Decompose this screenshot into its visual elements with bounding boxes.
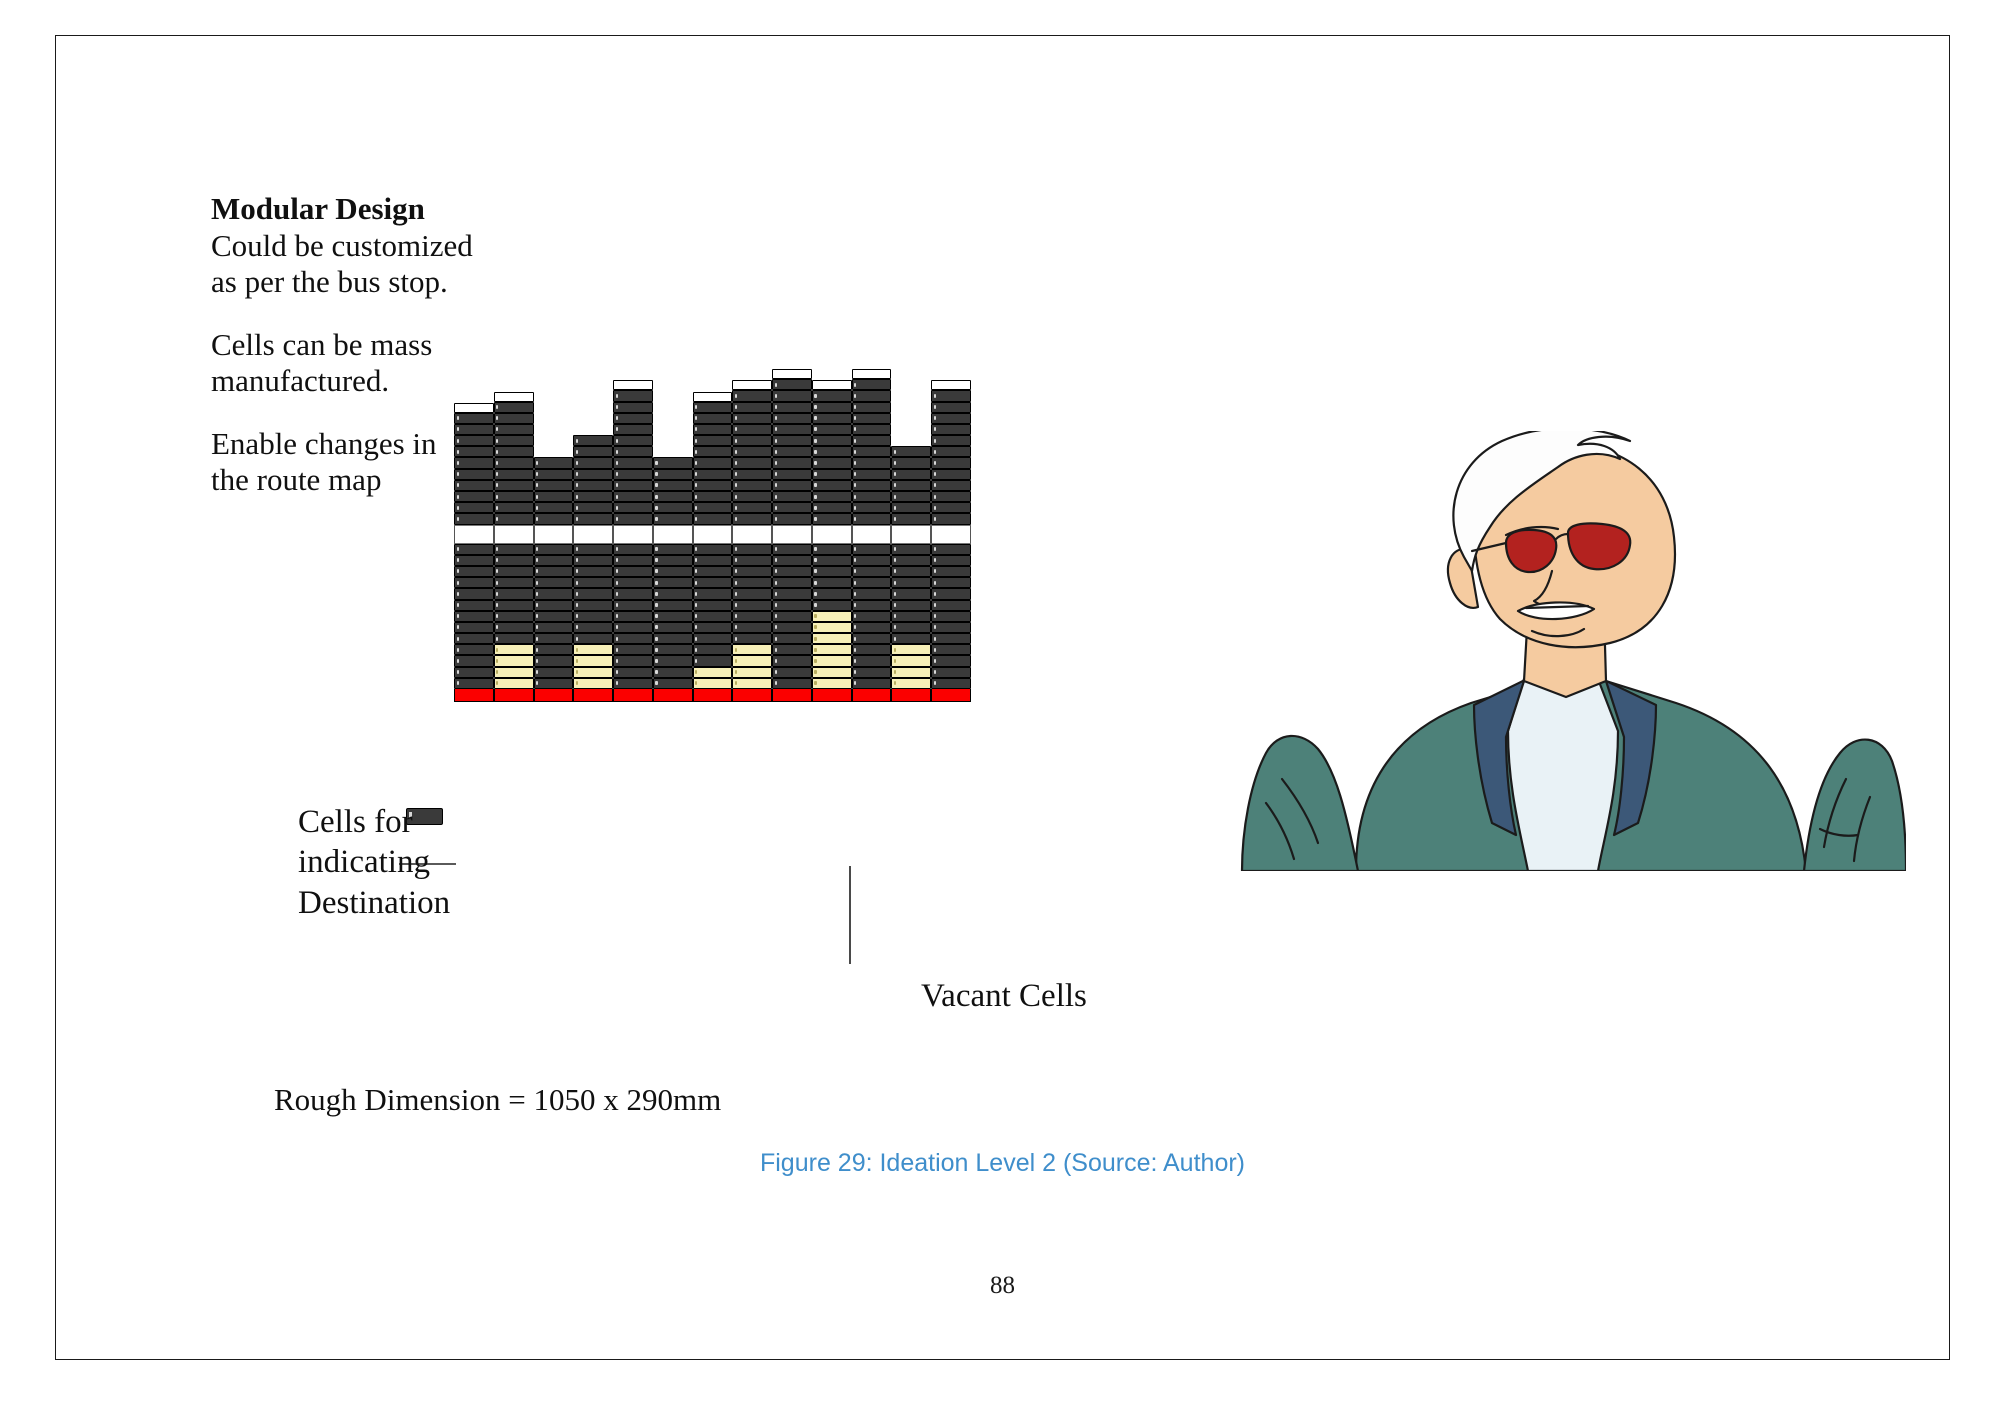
cell-module[interactable] bbox=[494, 424, 534, 435]
cell-module[interactable] bbox=[534, 502, 574, 513]
cell-module[interactable] bbox=[534, 457, 574, 468]
cell-module[interactable] bbox=[534, 644, 574, 655]
cell-module-blank[interactable] bbox=[852, 369, 892, 379]
cell-module[interactable] bbox=[772, 644, 812, 655]
cell-module[interactable] bbox=[852, 424, 892, 435]
cell-module[interactable] bbox=[454, 678, 494, 689]
cell-module[interactable] bbox=[534, 577, 574, 588]
cell-module[interactable] bbox=[772, 446, 812, 457]
cell-module[interactable] bbox=[931, 678, 971, 689]
cell-module[interactable] bbox=[454, 435, 494, 446]
cell-module[interactable] bbox=[693, 644, 733, 655]
cell-module[interactable] bbox=[852, 588, 892, 599]
cell-module[interactable] bbox=[772, 469, 812, 480]
cell-module[interactable] bbox=[732, 513, 772, 524]
cell-module[interactable] bbox=[613, 480, 653, 491]
cell-module[interactable] bbox=[852, 379, 892, 390]
cell-column[interactable] bbox=[852, 454, 892, 702]
cell-module-vacant[interactable] bbox=[494, 678, 534, 689]
cell-module[interactable] bbox=[653, 611, 693, 622]
cell-module[interactable] bbox=[693, 502, 733, 513]
cell-module[interactable] bbox=[613, 588, 653, 599]
cell-module[interactable] bbox=[613, 446, 653, 457]
cell-module[interactable] bbox=[812, 457, 852, 468]
cell-module[interactable] bbox=[573, 588, 613, 599]
cell-module[interactable] bbox=[732, 424, 772, 435]
cell-module[interactable] bbox=[573, 446, 613, 457]
cell-module[interactable] bbox=[812, 435, 852, 446]
cell-module[interactable] bbox=[931, 480, 971, 491]
cell-module[interactable] bbox=[613, 413, 653, 424]
cell-module[interactable] bbox=[852, 435, 892, 446]
cell-module[interactable] bbox=[534, 480, 574, 491]
cell-module[interactable] bbox=[931, 413, 971, 424]
cell-module-vacant[interactable] bbox=[494, 655, 534, 666]
cell-module[interactable] bbox=[613, 544, 653, 555]
cell-module[interactable] bbox=[534, 633, 574, 644]
cell-module[interactable] bbox=[891, 600, 931, 611]
cell-module[interactable] bbox=[772, 457, 812, 468]
cell-module-vacant[interactable] bbox=[494, 667, 534, 678]
cell-module[interactable] bbox=[732, 469, 772, 480]
cell-module[interactable] bbox=[613, 644, 653, 655]
cell-column[interactable] bbox=[534, 454, 574, 702]
cell-module[interactable] bbox=[891, 469, 931, 480]
cell-module[interactable] bbox=[852, 611, 892, 622]
cell-module[interactable] bbox=[732, 390, 772, 401]
cell-module[interactable] bbox=[454, 544, 494, 555]
cell-module[interactable] bbox=[732, 622, 772, 633]
cell-module-vacant[interactable] bbox=[573, 644, 613, 655]
cell-module[interactable] bbox=[494, 544, 534, 555]
cell-module[interactable] bbox=[653, 502, 693, 513]
cell-module[interactable] bbox=[693, 491, 733, 502]
cell-module[interactable] bbox=[772, 513, 812, 524]
cell-module[interactable] bbox=[454, 611, 494, 622]
cell-module[interactable] bbox=[852, 644, 892, 655]
cell-module[interactable] bbox=[494, 566, 534, 577]
cell-module[interactable] bbox=[693, 402, 733, 413]
cell-module[interactable] bbox=[852, 577, 892, 588]
cell-module[interactable] bbox=[852, 402, 892, 413]
cell-module[interactable] bbox=[534, 611, 574, 622]
cell-module[interactable] bbox=[494, 491, 534, 502]
cell-module[interactable] bbox=[653, 678, 693, 689]
cell-module[interactable] bbox=[693, 446, 733, 457]
cell-module[interactable] bbox=[812, 424, 852, 435]
cell-module[interactable] bbox=[772, 633, 812, 644]
cell-module[interactable] bbox=[573, 611, 613, 622]
cell-module[interactable] bbox=[852, 480, 892, 491]
cell-module[interactable] bbox=[454, 600, 494, 611]
cell-module[interactable] bbox=[852, 446, 892, 457]
cell-module[interactable] bbox=[494, 577, 534, 588]
cell-module[interactable] bbox=[772, 566, 812, 577]
cell-module-vacant[interactable] bbox=[812, 633, 852, 644]
cell-module[interactable] bbox=[534, 600, 574, 611]
cell-module[interactable] bbox=[613, 600, 653, 611]
cell-module[interactable] bbox=[494, 413, 534, 424]
cell-module[interactable] bbox=[613, 435, 653, 446]
cell-module[interactable] bbox=[891, 633, 931, 644]
cell-module[interactable] bbox=[852, 469, 892, 480]
cell-module[interactable] bbox=[613, 469, 653, 480]
cell-module[interactable] bbox=[812, 402, 852, 413]
cell-module[interactable] bbox=[454, 667, 494, 678]
cell-module[interactable] bbox=[534, 655, 574, 666]
cell-module[interactable] bbox=[613, 513, 653, 524]
cell-module[interactable] bbox=[732, 544, 772, 555]
cell-module[interactable] bbox=[852, 655, 892, 666]
cell-module[interactable] bbox=[653, 491, 693, 502]
cell-module[interactable] bbox=[494, 469, 534, 480]
cell-module[interactable] bbox=[812, 491, 852, 502]
cell-module-blank[interactable] bbox=[931, 380, 971, 390]
cell-module[interactable] bbox=[891, 480, 931, 491]
cell-module[interactable] bbox=[534, 555, 574, 566]
cell-module[interactable] bbox=[454, 502, 494, 513]
cell-module[interactable] bbox=[772, 611, 812, 622]
cell-module[interactable] bbox=[931, 600, 971, 611]
cell-module[interactable] bbox=[891, 555, 931, 566]
cell-module[interactable] bbox=[852, 667, 892, 678]
cell-module[interactable] bbox=[613, 424, 653, 435]
cell-module[interactable] bbox=[494, 402, 534, 413]
cell-module[interactable] bbox=[732, 577, 772, 588]
cell-module[interactable] bbox=[812, 413, 852, 424]
cell-module-vacant[interactable] bbox=[891, 644, 931, 655]
cell-module[interactable] bbox=[852, 502, 892, 513]
cell-column[interactable] bbox=[732, 454, 772, 702]
cell-module[interactable] bbox=[653, 633, 693, 644]
cell-module[interactable] bbox=[454, 555, 494, 566]
cell-module-vacant[interactable] bbox=[573, 667, 613, 678]
cell-module[interactable] bbox=[812, 566, 852, 577]
cell-module[interactable] bbox=[653, 480, 693, 491]
cell-module[interactable] bbox=[772, 678, 812, 689]
cell-module[interactable] bbox=[454, 413, 494, 424]
cell-module[interactable] bbox=[772, 480, 812, 491]
cell-module[interactable] bbox=[494, 555, 534, 566]
cell-module[interactable] bbox=[653, 644, 693, 655]
cell-module[interactable] bbox=[772, 544, 812, 555]
cell-module[interactable] bbox=[732, 480, 772, 491]
cell-module[interactable] bbox=[931, 622, 971, 633]
cell-column[interactable] bbox=[891, 454, 931, 702]
cell-module[interactable] bbox=[534, 622, 574, 633]
cell-module[interactable] bbox=[573, 577, 613, 588]
cell-module[interactable] bbox=[812, 544, 852, 555]
cell-module[interactable] bbox=[931, 502, 971, 513]
cell-module-blank[interactable] bbox=[494, 392, 534, 402]
cell-module[interactable] bbox=[613, 655, 653, 666]
cell-module[interactable] bbox=[454, 633, 494, 644]
cell-module[interactable] bbox=[931, 390, 971, 401]
cell-module[interactable] bbox=[772, 655, 812, 666]
cell-module[interactable] bbox=[494, 435, 534, 446]
cell-module-blank[interactable] bbox=[732, 380, 772, 390]
cell-module-blank[interactable] bbox=[454, 403, 494, 413]
cell-column[interactable] bbox=[693, 454, 733, 702]
cell-module-vacant[interactable] bbox=[812, 667, 852, 678]
cell-module[interactable] bbox=[613, 390, 653, 401]
cell-module[interactable] bbox=[931, 513, 971, 524]
cell-module[interactable] bbox=[693, 588, 733, 599]
cell-module[interactable] bbox=[454, 566, 494, 577]
cell-module[interactable] bbox=[931, 435, 971, 446]
cell-module[interactable] bbox=[931, 588, 971, 599]
cell-module[interactable] bbox=[772, 424, 812, 435]
cell-module[interactable] bbox=[812, 469, 852, 480]
cell-module-vacant[interactable] bbox=[891, 655, 931, 666]
cell-module[interactable] bbox=[613, 622, 653, 633]
cell-module[interactable] bbox=[931, 402, 971, 413]
cell-module[interactable] bbox=[653, 622, 693, 633]
cell-module[interactable] bbox=[573, 491, 613, 502]
cell-module[interactable] bbox=[732, 588, 772, 599]
cell-module[interactable] bbox=[812, 600, 852, 611]
cell-module[interactable] bbox=[693, 633, 733, 644]
cell-column[interactable] bbox=[454, 454, 494, 702]
cell-module[interactable] bbox=[812, 513, 852, 524]
cell-module[interactable] bbox=[732, 502, 772, 513]
cell-module[interactable] bbox=[891, 502, 931, 513]
cell-module[interactable] bbox=[693, 600, 733, 611]
cell-module[interactable] bbox=[494, 600, 534, 611]
cell-module[interactable] bbox=[454, 655, 494, 666]
cell-module[interactable] bbox=[772, 600, 812, 611]
cell-module[interactable] bbox=[852, 633, 892, 644]
cell-module[interactable] bbox=[494, 633, 534, 644]
cell-module[interactable] bbox=[693, 424, 733, 435]
cell-module[interactable] bbox=[931, 644, 971, 655]
cell-module-vacant[interactable] bbox=[891, 667, 931, 678]
cell-module[interactable] bbox=[931, 655, 971, 666]
cell-module-vacant[interactable] bbox=[812, 611, 852, 622]
cell-module[interactable] bbox=[454, 577, 494, 588]
cell-module[interactable] bbox=[613, 611, 653, 622]
cell-module-vacant[interactable] bbox=[812, 678, 852, 689]
cell-module[interactable] bbox=[852, 544, 892, 555]
cell-module[interactable] bbox=[693, 513, 733, 524]
cell-module[interactable] bbox=[891, 622, 931, 633]
cell-module[interactable] bbox=[494, 502, 534, 513]
cell-module[interactable] bbox=[534, 588, 574, 599]
cell-module[interactable] bbox=[732, 566, 772, 577]
cell-module[interactable] bbox=[852, 678, 892, 689]
cell-module[interactable] bbox=[891, 544, 931, 555]
cell-module[interactable] bbox=[732, 611, 772, 622]
cell-module[interactable] bbox=[534, 491, 574, 502]
cell-module[interactable] bbox=[891, 446, 931, 457]
cell-module[interactable] bbox=[454, 491, 494, 502]
cell-module[interactable] bbox=[732, 413, 772, 424]
cell-module[interactable] bbox=[891, 566, 931, 577]
cell-module[interactable] bbox=[812, 446, 852, 457]
cell-column[interactable] bbox=[931, 454, 971, 702]
cell-module[interactable] bbox=[812, 577, 852, 588]
cell-module[interactable] bbox=[693, 413, 733, 424]
cell-module[interactable] bbox=[891, 513, 931, 524]
cell-module[interactable] bbox=[931, 577, 971, 588]
cell-module-vacant[interactable] bbox=[693, 667, 733, 678]
cell-module[interactable] bbox=[812, 555, 852, 566]
cell-module-vacant[interactable] bbox=[812, 655, 852, 666]
cell-module[interactable] bbox=[534, 566, 574, 577]
cell-module[interactable] bbox=[852, 413, 892, 424]
cell-module[interactable] bbox=[693, 469, 733, 480]
cell-module-vacant[interactable] bbox=[812, 622, 852, 633]
cell-module[interactable] bbox=[772, 588, 812, 599]
cell-module[interactable] bbox=[573, 566, 613, 577]
cell-module[interactable] bbox=[931, 566, 971, 577]
cell-module[interactable] bbox=[852, 513, 892, 524]
cell-module[interactable] bbox=[931, 491, 971, 502]
cell-module[interactable] bbox=[613, 457, 653, 468]
cell-module[interactable] bbox=[653, 513, 693, 524]
cell-module[interactable] bbox=[812, 588, 852, 599]
cell-module[interactable] bbox=[653, 555, 693, 566]
cell-module[interactable] bbox=[534, 469, 574, 480]
cell-module[interactable] bbox=[653, 457, 693, 468]
cell-column[interactable] bbox=[812, 454, 852, 702]
cell-module[interactable] bbox=[573, 435, 613, 446]
cell-column[interactable] bbox=[573, 454, 613, 702]
cell-module[interactable] bbox=[732, 446, 772, 457]
cell-module[interactable] bbox=[891, 491, 931, 502]
cell-module-vacant[interactable] bbox=[732, 667, 772, 678]
cell-module[interactable] bbox=[653, 600, 693, 611]
cell-module[interactable] bbox=[653, 566, 693, 577]
cell-module[interactable] bbox=[931, 457, 971, 468]
cell-module[interactable] bbox=[613, 402, 653, 413]
cell-module[interactable] bbox=[931, 667, 971, 678]
cell-module[interactable] bbox=[613, 667, 653, 678]
cell-module[interactable] bbox=[852, 555, 892, 566]
cell-module[interactable] bbox=[772, 402, 812, 413]
cell-module[interactable] bbox=[772, 390, 812, 401]
cell-module[interactable] bbox=[494, 588, 534, 599]
cell-module[interactable] bbox=[573, 502, 613, 513]
cell-module[interactable] bbox=[852, 491, 892, 502]
cell-module[interactable] bbox=[772, 435, 812, 446]
cell-module[interactable] bbox=[693, 577, 733, 588]
cell-module[interactable] bbox=[931, 446, 971, 457]
cell-module[interactable] bbox=[454, 446, 494, 457]
cell-module[interactable] bbox=[772, 502, 812, 513]
cell-module[interactable] bbox=[732, 402, 772, 413]
cell-module[interactable] bbox=[454, 622, 494, 633]
cell-module[interactable] bbox=[732, 600, 772, 611]
cell-module[interactable] bbox=[573, 555, 613, 566]
cell-module[interactable] bbox=[693, 566, 733, 577]
cell-module[interactable] bbox=[454, 424, 494, 435]
cell-module-blank[interactable] bbox=[772, 369, 812, 379]
cell-module-vacant[interactable] bbox=[693, 678, 733, 689]
cell-module[interactable] bbox=[573, 622, 613, 633]
cell-module[interactable] bbox=[573, 457, 613, 468]
cell-column[interactable] bbox=[613, 454, 653, 702]
cell-module[interactable] bbox=[573, 469, 613, 480]
cell-module-vacant[interactable] bbox=[732, 655, 772, 666]
cell-module[interactable] bbox=[931, 469, 971, 480]
cell-module[interactable] bbox=[693, 611, 733, 622]
cell-column[interactable] bbox=[772, 454, 812, 702]
cell-module[interactable] bbox=[573, 633, 613, 644]
cell-module[interactable] bbox=[573, 600, 613, 611]
cell-module[interactable] bbox=[613, 633, 653, 644]
cell-module[interactable] bbox=[931, 544, 971, 555]
cell-module[interactable] bbox=[494, 446, 534, 457]
cell-module-blank[interactable] bbox=[693, 392, 733, 402]
cell-module[interactable] bbox=[732, 555, 772, 566]
cell-module[interactable] bbox=[653, 588, 693, 599]
cell-module[interactable] bbox=[693, 544, 733, 555]
cell-module-blank[interactable] bbox=[613, 380, 653, 390]
cell-module[interactable] bbox=[613, 502, 653, 513]
cell-module[interactable] bbox=[772, 379, 812, 390]
cell-module[interactable] bbox=[732, 457, 772, 468]
cell-module[interactable] bbox=[852, 390, 892, 401]
cell-module[interactable] bbox=[931, 555, 971, 566]
cell-module[interactable] bbox=[613, 491, 653, 502]
cell-module[interactable] bbox=[772, 622, 812, 633]
cell-module[interactable] bbox=[534, 667, 574, 678]
cell-module[interactable] bbox=[534, 513, 574, 524]
cell-module[interactable] bbox=[772, 413, 812, 424]
cell-module[interactable] bbox=[454, 457, 494, 468]
cell-module[interactable] bbox=[812, 480, 852, 491]
cell-module[interactable] bbox=[653, 655, 693, 666]
cell-module[interactable] bbox=[494, 513, 534, 524]
cell-module[interactable] bbox=[534, 678, 574, 689]
cell-module[interactable] bbox=[852, 622, 892, 633]
cell-module-vacant[interactable] bbox=[494, 644, 534, 655]
cell-module[interactable] bbox=[732, 633, 772, 644]
cell-module[interactable] bbox=[494, 622, 534, 633]
cell-column[interactable] bbox=[494, 454, 534, 702]
cell-module[interactable] bbox=[454, 469, 494, 480]
cell-module[interactable] bbox=[931, 424, 971, 435]
cell-module[interactable] bbox=[693, 457, 733, 468]
cell-module[interactable] bbox=[891, 611, 931, 622]
cell-module-vacant[interactable] bbox=[573, 655, 613, 666]
cell-module[interactable] bbox=[772, 577, 812, 588]
cell-module[interactable] bbox=[891, 588, 931, 599]
cell-module[interactable] bbox=[613, 566, 653, 577]
cell-module[interactable] bbox=[454, 588, 494, 599]
cell-module[interactable] bbox=[732, 435, 772, 446]
cell-module-vacant[interactable] bbox=[732, 678, 772, 689]
cell-module[interactable] bbox=[613, 678, 653, 689]
cell-module-vacant[interactable] bbox=[812, 644, 852, 655]
cell-module[interactable] bbox=[653, 469, 693, 480]
cell-module[interactable] bbox=[653, 667, 693, 678]
cell-module[interactable] bbox=[494, 611, 534, 622]
cell-module[interactable] bbox=[852, 600, 892, 611]
cell-module[interactable] bbox=[732, 491, 772, 502]
cell-module-vacant[interactable] bbox=[732, 644, 772, 655]
cell-module[interactable] bbox=[573, 480, 613, 491]
cell-module-vacant[interactable] bbox=[573, 678, 613, 689]
cell-module[interactable] bbox=[693, 435, 733, 446]
cell-module[interactable] bbox=[891, 577, 931, 588]
cell-module[interactable] bbox=[573, 544, 613, 555]
cell-module[interactable] bbox=[573, 513, 613, 524]
cell-module[interactable] bbox=[693, 555, 733, 566]
cell-module[interactable] bbox=[772, 491, 812, 502]
cell-module[interactable] bbox=[812, 502, 852, 513]
